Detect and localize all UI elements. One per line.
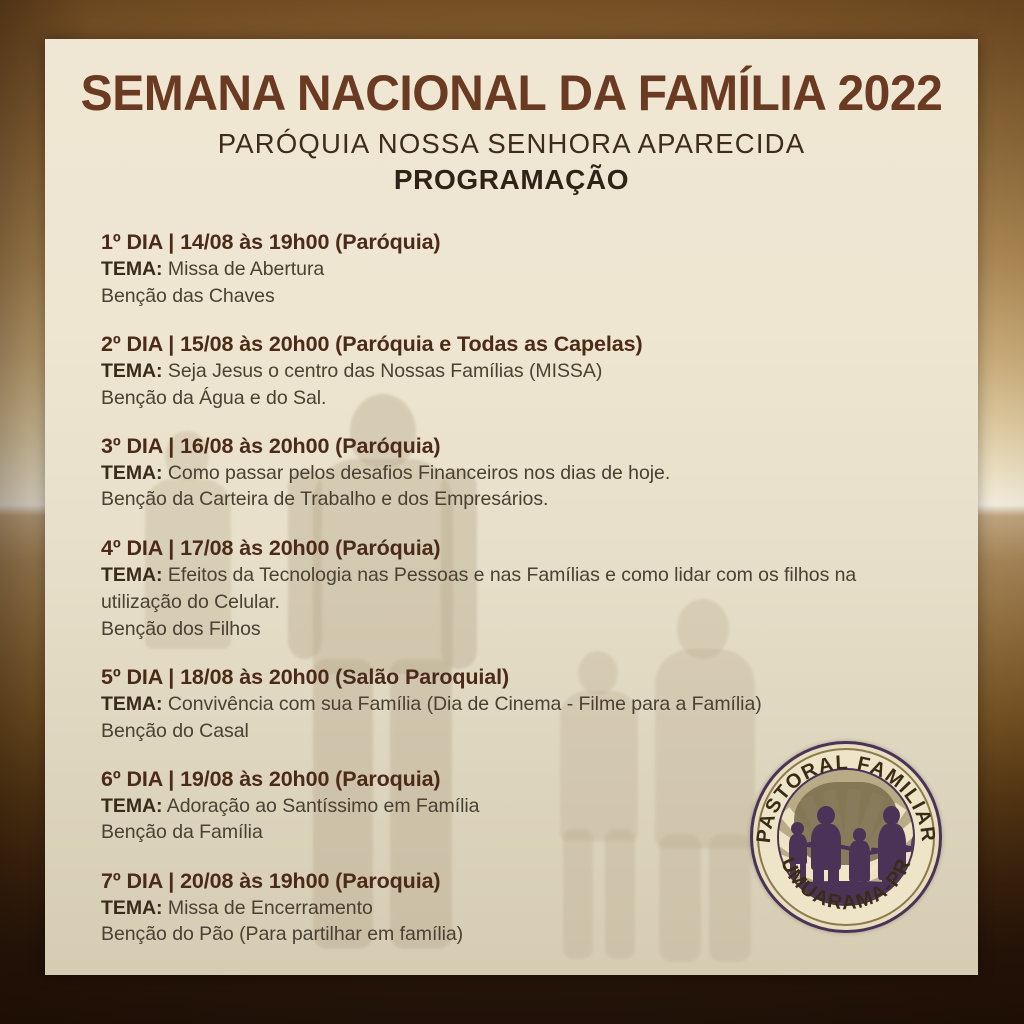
day-blessing: Benção da Carteira de Trabalho e dos Emp… [101, 487, 952, 512]
schedule-day-4: 4º DIA | 17/08 às 20h00 (Paróquia) TEMA:… [101, 535, 952, 642]
logo-emblem [777, 768, 915, 906]
tema-label: TEMA: [101, 258, 163, 280]
day-heading: 5º DIA | 18/08 às 20h00 (Salão Paroquial… [101, 664, 952, 690]
day-theme-text: Adoração ao Santíssimo em Família [167, 795, 480, 817]
day-blessing: Benção da Água e do Sal. [101, 386, 952, 411]
schedule-day-2: 2º DIA | 15/08 às 20h00 (Paróquia e Toda… [101, 331, 952, 411]
day-theme: TEMA: Como passar pelos desafios Finance… [101, 461, 952, 486]
day-blessing: Benção dos Filhos [101, 617, 952, 642]
day-theme: TEMA: Missa de Abertura [101, 257, 952, 282]
day-theme-text: Convivência com sua Família (Dia de Cine… [168, 693, 762, 715]
pastoral-familiar-logo: PASTORAL FAMILIAR UMUARAMA-PR [750, 741, 942, 933]
day-blessing: Benção das Chaves [101, 284, 952, 309]
poster-header: SEMANA NACIONAL DA FAMÍLIA 2022 PARÓQUIA… [45, 39, 978, 196]
day-heading: 2º DIA | 15/08 às 20h00 (Paróquia e Toda… [101, 331, 952, 357]
day-heading: 4º DIA | 17/08 às 20h00 (Paróquia) [101, 535, 952, 561]
tema-label: TEMA: [101, 795, 163, 817]
tema-label: TEMA: [101, 462, 163, 484]
day-theme: TEMA: Convivência com sua Família (Dia d… [101, 692, 952, 717]
day-heading: 3º DIA | 16/08 às 20h00 (Paróquia) [101, 433, 952, 459]
schedule-day-1: 1º DIA | 14/08 às 19h00 (Paróquia) TEMA:… [101, 229, 952, 309]
parish-subtitle: PARÓQUIA NOSSA SENHORA APARECIDA [45, 129, 978, 159]
day-theme: TEMA: Efeitos da Tecnologia nas Pessoas … [101, 563, 952, 588]
poster-card: SEMANA NACIONAL DA FAMÍLIA 2022 PARÓQUIA… [45, 39, 978, 975]
day-heading: 1º DIA | 14/08 às 19h00 (Paróquia) [101, 229, 952, 255]
tema-label: TEMA: [101, 360, 163, 382]
day-theme-text: Como passar pelos desafios Financeiros n… [168, 462, 670, 484]
tema-label: TEMA: [101, 897, 163, 919]
day-theme-continuation: utilização do Celular. [101, 590, 952, 615]
day-theme-text: Efeitos da Tecnologia nas Pessoas e nas … [168, 564, 856, 586]
schedule-day-5: 5º DIA | 18/08 às 20h00 (Salão Paroquial… [101, 664, 952, 744]
day-theme-text: Missa de Abertura [168, 258, 324, 280]
page-title: SEMANA NACIONAL DA FAMÍLIA 2022 [64, 66, 960, 120]
day-theme-text: Missa de Encerramento [168, 897, 373, 919]
schedule-day-3: 3º DIA | 16/08 às 20h00 (Paróquia) TEMA:… [101, 433, 952, 513]
tema-label: TEMA: [101, 693, 163, 715]
tema-label: TEMA: [101, 564, 163, 586]
day-theme: TEMA: Seja Jesus o centro das Nossas Fam… [101, 359, 952, 384]
day-theme-text: Seja Jesus o centro das Nossas Famílias … [168, 360, 602, 382]
program-heading: PROGRAMAÇÃO [45, 165, 978, 196]
